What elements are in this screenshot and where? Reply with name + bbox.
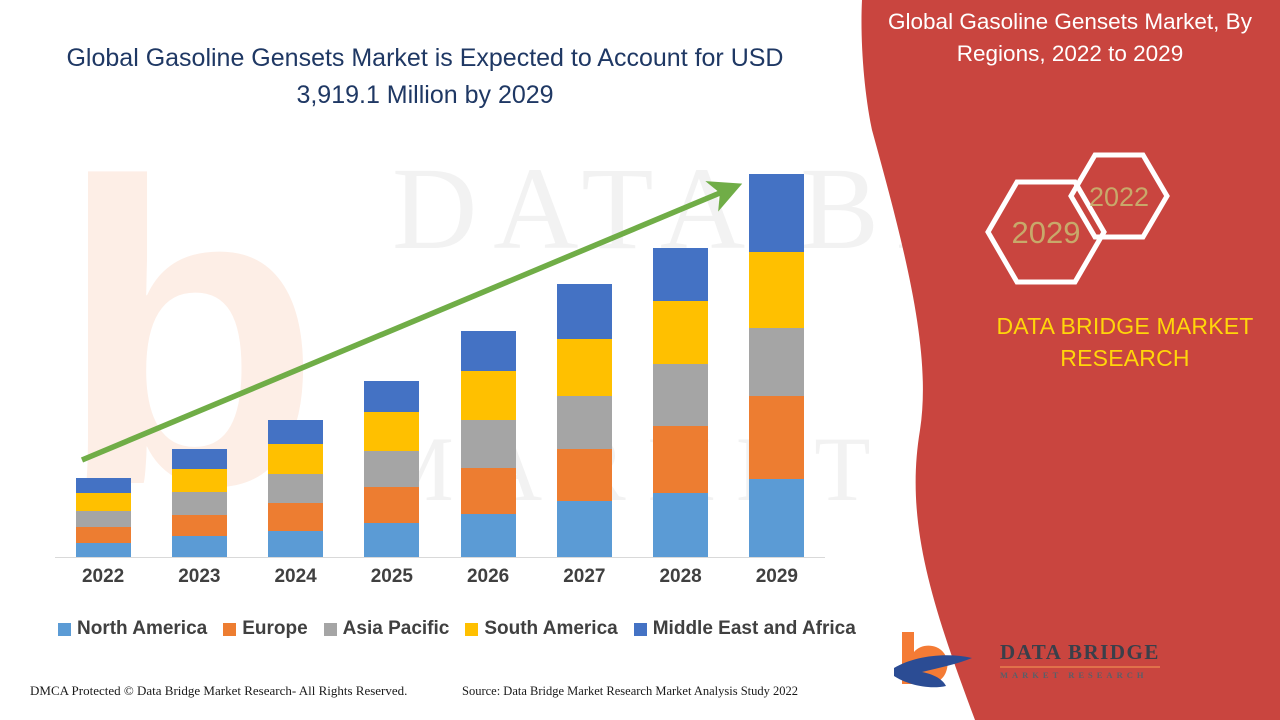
legend-label: South America [484,618,617,640]
bar-segment-europe [76,527,131,542]
x-axis-label-2027: 2027 [544,566,624,588]
bar-segment-middle-east-and-africa [172,449,227,469]
legend-swatch-icon [634,623,647,636]
legend-swatch-icon [58,623,71,636]
bar-2027 [557,284,612,557]
x-axis-label-2022: 2022 [63,566,143,588]
x-axis-labels: 20222023202420252026202720282029 [55,566,825,596]
logo-divider [1000,666,1160,668]
bar-segment-europe [268,503,323,531]
bar-2024 [268,420,323,557]
bar-segment-europe [461,468,516,514]
bar-segment-middle-east-and-africa [557,284,612,340]
bar-segment-south-america [461,371,516,420]
bar-segment-north-america [76,543,131,557]
x-axis-label-2025: 2025 [352,566,432,588]
bar-2026 [461,331,516,557]
legend-label: Europe [242,618,307,640]
legend-item-middle-east-and-africa[interactable]: Middle East and Africa [634,618,856,640]
legend-swatch-icon [223,623,236,636]
legend-label: Asia Pacific [343,618,450,640]
legend-item-south-america[interactable]: South America [465,618,617,640]
bar-segment-south-america [557,339,612,396]
panel-title: Global Gasoline Gensets Market, By Regio… [870,6,1270,70]
bar-segment-asia-pacific [76,511,131,527]
bar-segment-asia-pacific [653,364,708,427]
bar-2029 [749,174,804,557]
bar-segment-middle-east-and-africa [653,248,708,301]
bar-segment-south-america [268,444,323,474]
bar-segment-south-america [364,412,419,450]
logo-sub-text: MARKET RESEARCH [1000,670,1160,680]
bar-segment-asia-pacific [268,474,323,503]
bar-2025 [364,381,419,557]
x-axis-label-2023: 2023 [159,566,239,588]
brand-name: DATA BRIDGE MARKET RESEARCH [960,310,1280,374]
bar-segment-middle-east-and-africa [749,174,804,252]
bar-segment-europe [749,396,804,479]
bar-segment-south-america [76,493,131,510]
bar-segment-north-america [557,501,612,557]
bar-segment-asia-pacific [172,492,227,515]
legend-swatch-icon [324,623,337,636]
legend-label: North America [77,618,207,640]
infographic-canvas: b DATA BRIDGE MARKET RESEARCH Global Gas… [0,0,1280,720]
hexagon-label-near: 2029 [1012,215,1081,250]
logo-wordmark: DATA BRIDGE MARKET RESEARCH [1000,640,1160,680]
bar-segment-asia-pacific [749,328,804,396]
legend-item-asia-pacific[interactable]: Asia Pacific [324,618,450,640]
footer-source: Source: Data Bridge Market Research Mark… [462,684,798,699]
chart-plot-area [55,160,825,557]
legend-item-europe[interactable]: Europe [223,618,307,640]
x-axis-label-2026: 2026 [448,566,528,588]
bar-segment-south-america [172,469,227,493]
hexagon-group: 2022 2029 [975,150,1205,295]
bar-segment-south-america [653,301,708,364]
bar-segment-north-america [172,536,227,557]
x-axis-line [55,557,825,558]
x-axis-label-2028: 2028 [641,566,721,588]
bar-segment-middle-east-and-africa [76,478,131,493]
bar-segment-north-america [364,523,419,557]
page-title: Global Gasoline Gensets Market is Expect… [40,40,810,114]
chart-legend: North AmericaEuropeAsia PacificSouth Ame… [58,615,848,643]
x-axis-label-2024: 2024 [256,566,336,588]
bar-segment-asia-pacific [461,420,516,467]
bar-segment-middle-east-and-africa [268,420,323,445]
bar-segment-middle-east-and-africa [461,331,516,371]
footer-copyright: DMCA Protected © Data Bridge Market Rese… [30,683,407,699]
bar-2022 [76,478,131,557]
bar-segment-europe [557,449,612,500]
bar-segment-europe [653,426,708,493]
bar-segment-europe [172,515,227,537]
bar-segment-north-america [749,479,804,557]
x-axis-label-2029: 2029 [737,566,817,588]
hexagon-label-far: 2022 [1089,182,1149,212]
bar-segment-north-america [653,493,708,557]
legend-swatch-icon [465,623,478,636]
bar-segment-asia-pacific [557,396,612,449]
legend-item-north-america[interactable]: North America [58,618,207,640]
bar-segment-middle-east-and-africa [364,381,419,412]
legend-label: Middle East and Africa [653,618,856,640]
bar-segment-north-america [268,531,323,557]
logo-main-text: DATA BRIDGE [1000,640,1160,665]
bar-segment-asia-pacific [364,451,419,488]
bar-2023 [172,449,227,557]
bar-segment-south-america [749,252,804,328]
bar-2028 [653,248,708,557]
bar-segment-europe [364,487,419,523]
bar-segment-north-america [461,514,516,557]
stacked-bar-chart [55,160,825,560]
